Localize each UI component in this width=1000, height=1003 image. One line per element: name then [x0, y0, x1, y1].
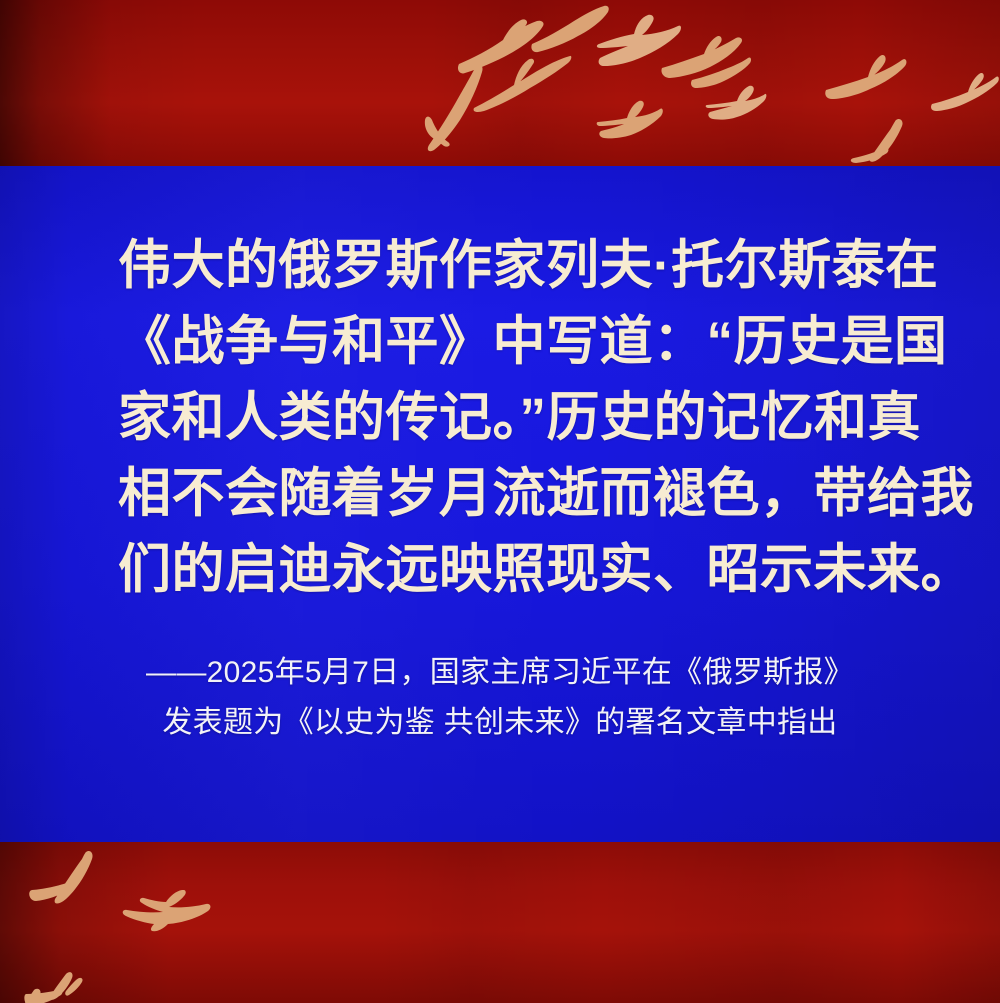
- quote-line: 们的启迪永远映照现实、昭示未来。: [118, 532, 886, 608]
- dove-icon: [0, 988, 62, 1003]
- dove-icon: [824, 54, 908, 102]
- dove-icon: [705, 85, 767, 121]
- dove-icon: [930, 72, 1000, 114]
- quote-line: 相不会随着岁月流逝而褪色，带给我: [118, 456, 886, 532]
- attribution-block: ——2025年5月7日，国家主席习近平在《俄罗斯报》 发表题为《以史为鉴 共创未…: [0, 648, 1000, 748]
- dove-icon: [28, 850, 114, 906]
- quote-text-block: 伟大的俄罗斯作家列夫·托尔斯泰在 《战争与和平》中写道：“历史是国 家和人类的传…: [118, 228, 886, 608]
- quote-line: 伟大的俄罗斯作家列夫·托尔斯泰在: [118, 228, 886, 304]
- quote-line: 家和人类的传记。”历史的记忆和真: [118, 380, 886, 456]
- dove-icon: [596, 100, 664, 140]
- red-banner-bottom: [0, 842, 1000, 1003]
- red-banner-top: [0, 0, 1000, 166]
- quote-line: 《战争与和平》中写道：“历史是国: [118, 304, 886, 380]
- dove-icon: [848, 118, 920, 164]
- dove-icon: [118, 890, 214, 932]
- attribution-line: 发表题为《以史为鉴 共创未来》的署名文章中指出: [0, 698, 1000, 748]
- quote-poster: 伟大的俄罗斯作家列夫·托尔斯泰在 《战争与和平》中写道：“历史是国 家和人类的传…: [0, 0, 1000, 1003]
- attribution-line: ——2025年5月7日，国家主席习近平在《俄罗斯报》: [0, 648, 1000, 698]
- dove-icon: [424, 62, 502, 154]
